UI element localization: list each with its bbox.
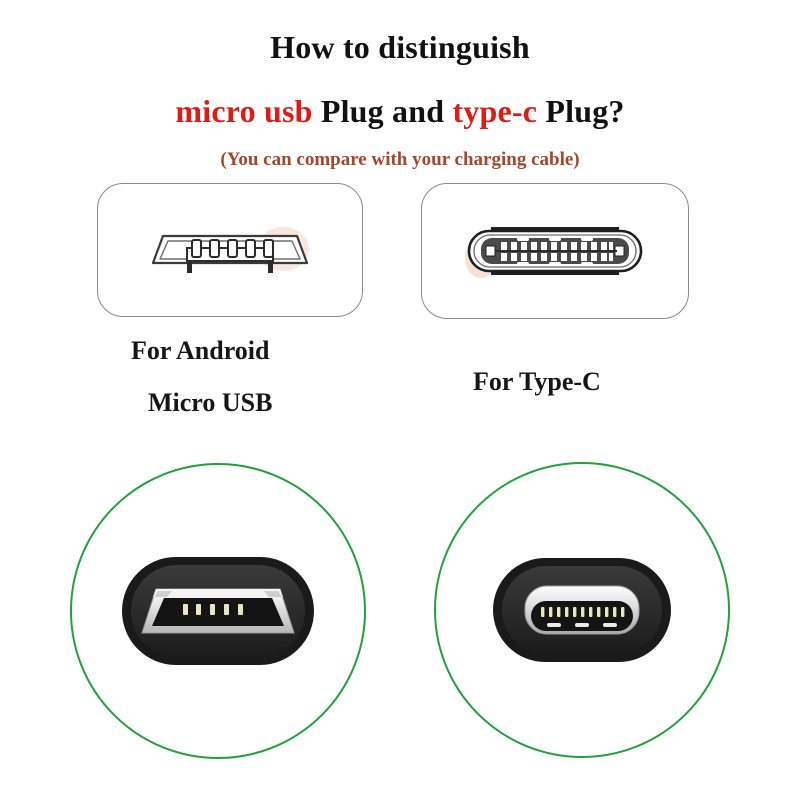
- page-title-line-2: micro usb Plug and type-c Plug?: [0, 95, 800, 127]
- type-c-diagram-card: [421, 183, 689, 319]
- type-c-highlight-circle: [434, 462, 730, 758]
- micro-usb-port-line-drawing-icon: [135, 215, 325, 285]
- type-c-port-line-drawing-icon: [455, 214, 655, 288]
- caption-for-type-c: For Type-C: [473, 368, 601, 397]
- type-c-connector-photo-icon: [491, 556, 673, 664]
- micro-usb-highlight-circle: [70, 463, 366, 759]
- page-subtitle: (You can compare with your charging cabl…: [0, 150, 800, 169]
- page-title-line-1: How to distinguish: [0, 31, 800, 63]
- micro-usb-connector-photo-icon: [120, 555, 316, 667]
- title-text-plug-question: Plug?: [537, 93, 624, 129]
- title-highlight-type-c: type-c: [452, 93, 537, 129]
- title-highlight-micro-usb: micro usb: [175, 93, 312, 129]
- micro-usb-diagram-card: [97, 183, 363, 317]
- title-text-plug-and: Plug and: [313, 93, 453, 129]
- caption-for-android: For Android: [131, 337, 269, 366]
- caption-micro-usb: Micro USB: [148, 389, 272, 418]
